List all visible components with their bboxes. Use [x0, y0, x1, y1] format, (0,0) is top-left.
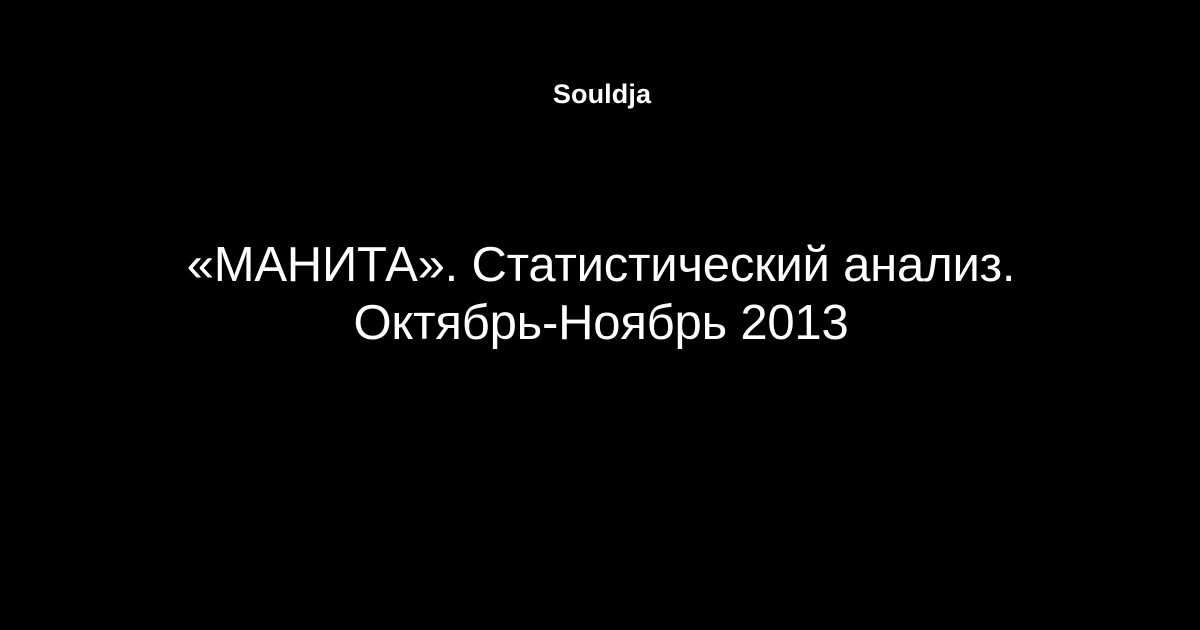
headline-container: «МАНИТА». Статистический анализ. Октябрь… [0, 236, 1200, 352]
page-title-line-1: «МАНИТА». Статистический анализ. [96, 236, 1106, 294]
site-name: Souldja [553, 81, 651, 108]
empty-footer-area [0, 380, 1200, 630]
share-preview-card: Souldja «МАНИТА». Статистический анализ.… [0, 0, 1200, 630]
site-name-container: Souldja [0, 0, 1200, 126]
page-title-line-2: Октябрь-Ноябрь 2013 [96, 294, 1106, 352]
page-title: «МАНИТА». Статистический анализ. Октябрь… [96, 236, 1106, 352]
